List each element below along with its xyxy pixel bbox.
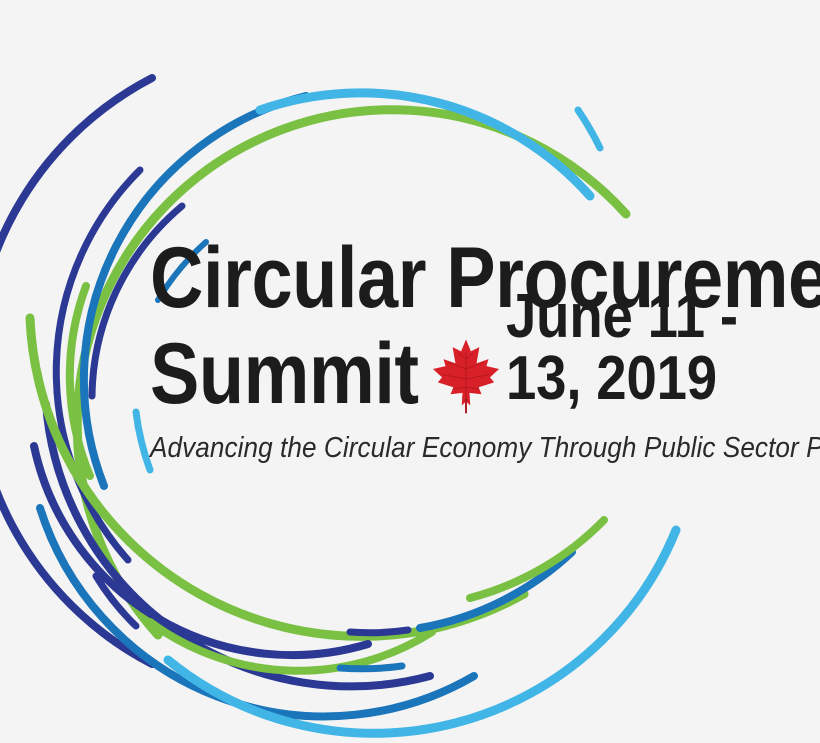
arc-lightblue-left: [136, 412, 150, 470]
arc-blue-bottom-left-stub: [340, 666, 402, 669]
arc-navy-bottom-right-stub: [350, 630, 408, 633]
event-date: June 11 - 13, 2019: [506, 286, 782, 410]
arc-blue-bottom: [40, 508, 474, 716]
logo-text-block: Circular Procurement Summit: [150, 236, 820, 465]
arc-green-right-tail: [470, 520, 604, 598]
title-line-2: Summit: [150, 332, 419, 416]
tagline-row: Advancing the Circular Economy Through P…: [150, 416, 820, 465]
arc-lightblue-stub-top: [578, 110, 600, 148]
maple-leaf-icon: [430, 338, 502, 414]
logo-canvas: Circular Procurement Summit: [0, 0, 820, 743]
tagline: Advancing the Circular Economy Through P…: [150, 432, 820, 465]
title-line-2-row: Summit June 11 - 13, 2019: [150, 324, 820, 416]
